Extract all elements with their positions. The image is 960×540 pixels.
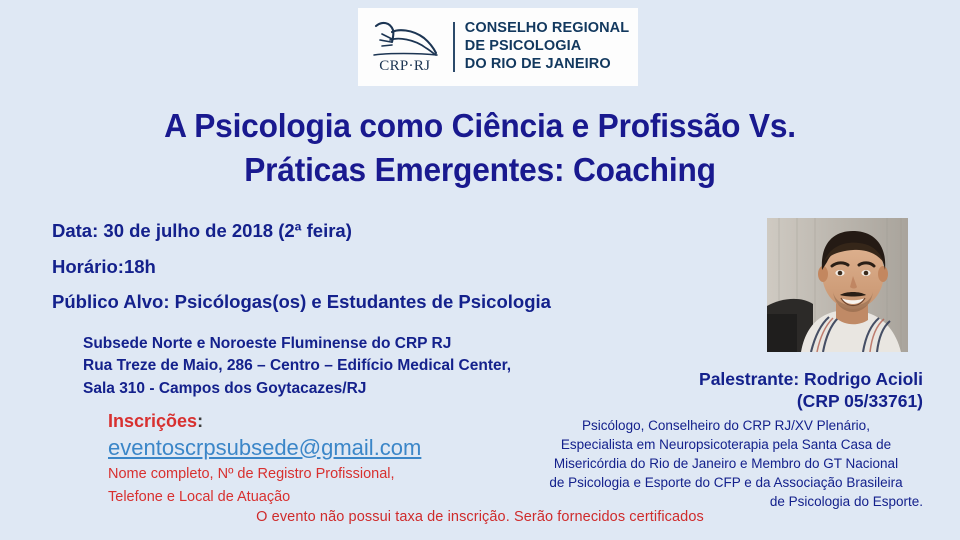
footer-note: O evento não possui taxa de inscrição. S… bbox=[0, 509, 960, 526]
registration-label-colon: : bbox=[197, 411, 203, 431]
event-poster: CRP·RJ CONSELHO REGIONAL DE PSICOLOGIA D… bbox=[0, 0, 960, 540]
event-time: Horário:18h bbox=[52, 258, 551, 277]
registration-note-line2: Telefone e Local de Atuação bbox=[108, 488, 421, 508]
event-title-line2: Práticas Emergentes: Coaching bbox=[19, 148, 941, 192]
speaker-info: Palestrante: Rodrigo Acioli (CRP 05/3376… bbox=[526, 369, 926, 512]
event-title: A Psicologia como Ciência e Profissão Vs… bbox=[19, 104, 941, 192]
speaker-name: Palestrante: Rodrigo Acioli bbox=[526, 369, 926, 391]
registration-block: Inscrições: eventoscrpsubsede@gmail.com … bbox=[108, 410, 421, 507]
logo-org-line1: CONSELHO REGIONAL bbox=[465, 20, 629, 36]
registration-label-text: Inscrições bbox=[108, 411, 197, 431]
event-date: Data: 30 de julho de 2018 (2ª feira) bbox=[52, 222, 551, 241]
speaker-bio-line1: Psicólogo, Conselheiro do CRP RJ/XV Plen… bbox=[526, 416, 926, 435]
crp-rj-logo: CRP·RJ CONSELHO REGIONAL DE PSICOLOGIA D… bbox=[358, 8, 638, 86]
event-venue-address: Subsede Norte e Noroeste Fluminense do C… bbox=[83, 333, 511, 400]
registration-email-link[interactable]: eventoscrpsubsede@gmail.com bbox=[108, 434, 421, 463]
speaker-crp-number: (CRP 05/33761) bbox=[526, 391, 926, 413]
event-audience: Público Alvo: Psicólogas(os) e Estudante… bbox=[52, 293, 551, 312]
speaker-bio-line2: Especialista em Neuropsicoterapia pela S… bbox=[526, 435, 926, 454]
logo-mark-label: CRP·RJ bbox=[379, 59, 430, 74]
logo-org-name: CONSELHO REGIONAL DE PSICOLOGIA DO RIO D… bbox=[465, 20, 629, 73]
logo-org-line3: DO RIO DE JANEIRO bbox=[465, 56, 611, 72]
registration-note-line1: Nome completo, Nº de Registro Profission… bbox=[108, 465, 421, 485]
speaker-bio-line4: de Psicologia e Esporte do CFP e da Asso… bbox=[526, 473, 926, 492]
event-title-line1: A Psicologia como Ciência e Profissão Vs… bbox=[19, 104, 941, 148]
crp-bird-icon: CRP·RJ bbox=[367, 20, 443, 74]
venue-line3: Sala 310 - Campos dos Goytacazes/RJ bbox=[83, 378, 511, 400]
speaker-bio-line3: Misericórdia do Rio de Janeiro e Membro … bbox=[526, 454, 926, 473]
event-info: Data: 30 de julho de 2018 (2ª feira) Hor… bbox=[52, 222, 551, 329]
venue-line2: Rua Treze de Maio, 286 – Centro – Edifíc… bbox=[83, 355, 511, 377]
speaker-bio: Psicólogo, Conselheiro do CRP RJ/XV Plen… bbox=[526, 416, 926, 512]
logo-divider bbox=[453, 22, 455, 72]
registration-label: Inscrições: bbox=[108, 410, 421, 433]
speaker-photo bbox=[767, 218, 908, 352]
venue-line1: Subsede Norte e Noroeste Fluminense do C… bbox=[83, 333, 511, 355]
logo-inner: CRP·RJ CONSELHO REGIONAL DE PSICOLOGIA D… bbox=[367, 20, 629, 74]
logo-org-line2: DE PSICOLOGIA bbox=[465, 38, 582, 54]
